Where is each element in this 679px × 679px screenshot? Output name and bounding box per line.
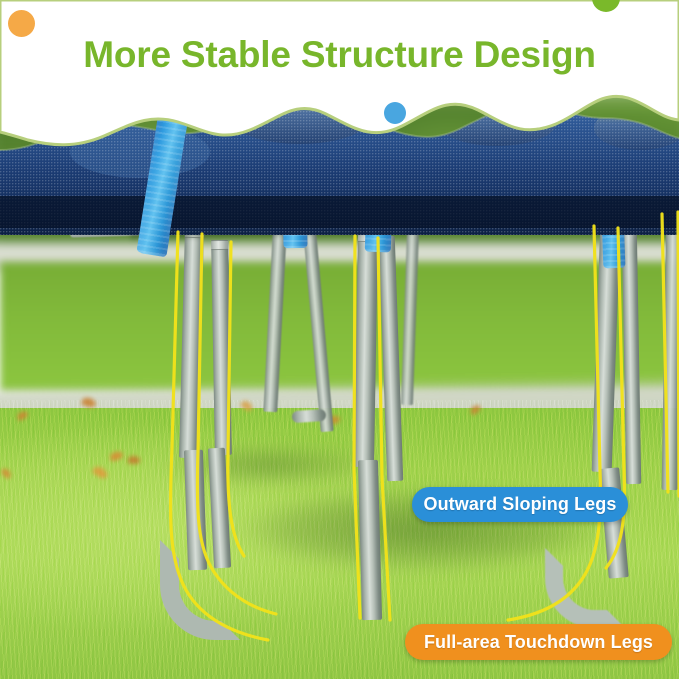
trampoline-leg-back: [263, 232, 286, 412]
trampoline-leg-edge: [662, 210, 679, 490]
badge-outward-sloping-legs[interactable]: Outward Sloping Legs: [412, 487, 628, 522]
orange-dot-icon: [8, 10, 35, 37]
badge-full-area-touchdown-legs[interactable]: Full-area Touchdown Legs: [405, 624, 672, 660]
trampoline-leg-front: [354, 232, 378, 467]
trampoline-leg-front: [179, 228, 204, 458]
trampoline-leg-front: [211, 240, 232, 455]
banner-stage: More Stable Structure Design Outward Slo…: [0, 0, 679, 679]
trampoline-leg-front: [358, 460, 382, 620]
trampoline-leg-back: [401, 230, 419, 405]
blue-dot-icon: [384, 102, 406, 124]
trampoline-leg-u-bend: [545, 548, 625, 628]
page-title: More Stable Structure Design: [0, 34, 679, 76]
trampoline-leg-back: [292, 409, 327, 423]
trampoline-leg-front: [379, 236, 404, 481]
blue-frame-pad: [282, 186, 307, 248]
trampoline-leg-back: [303, 232, 333, 432]
wave-divider: [0, 0, 679, 190]
blue-frame-pad: [601, 186, 626, 269]
